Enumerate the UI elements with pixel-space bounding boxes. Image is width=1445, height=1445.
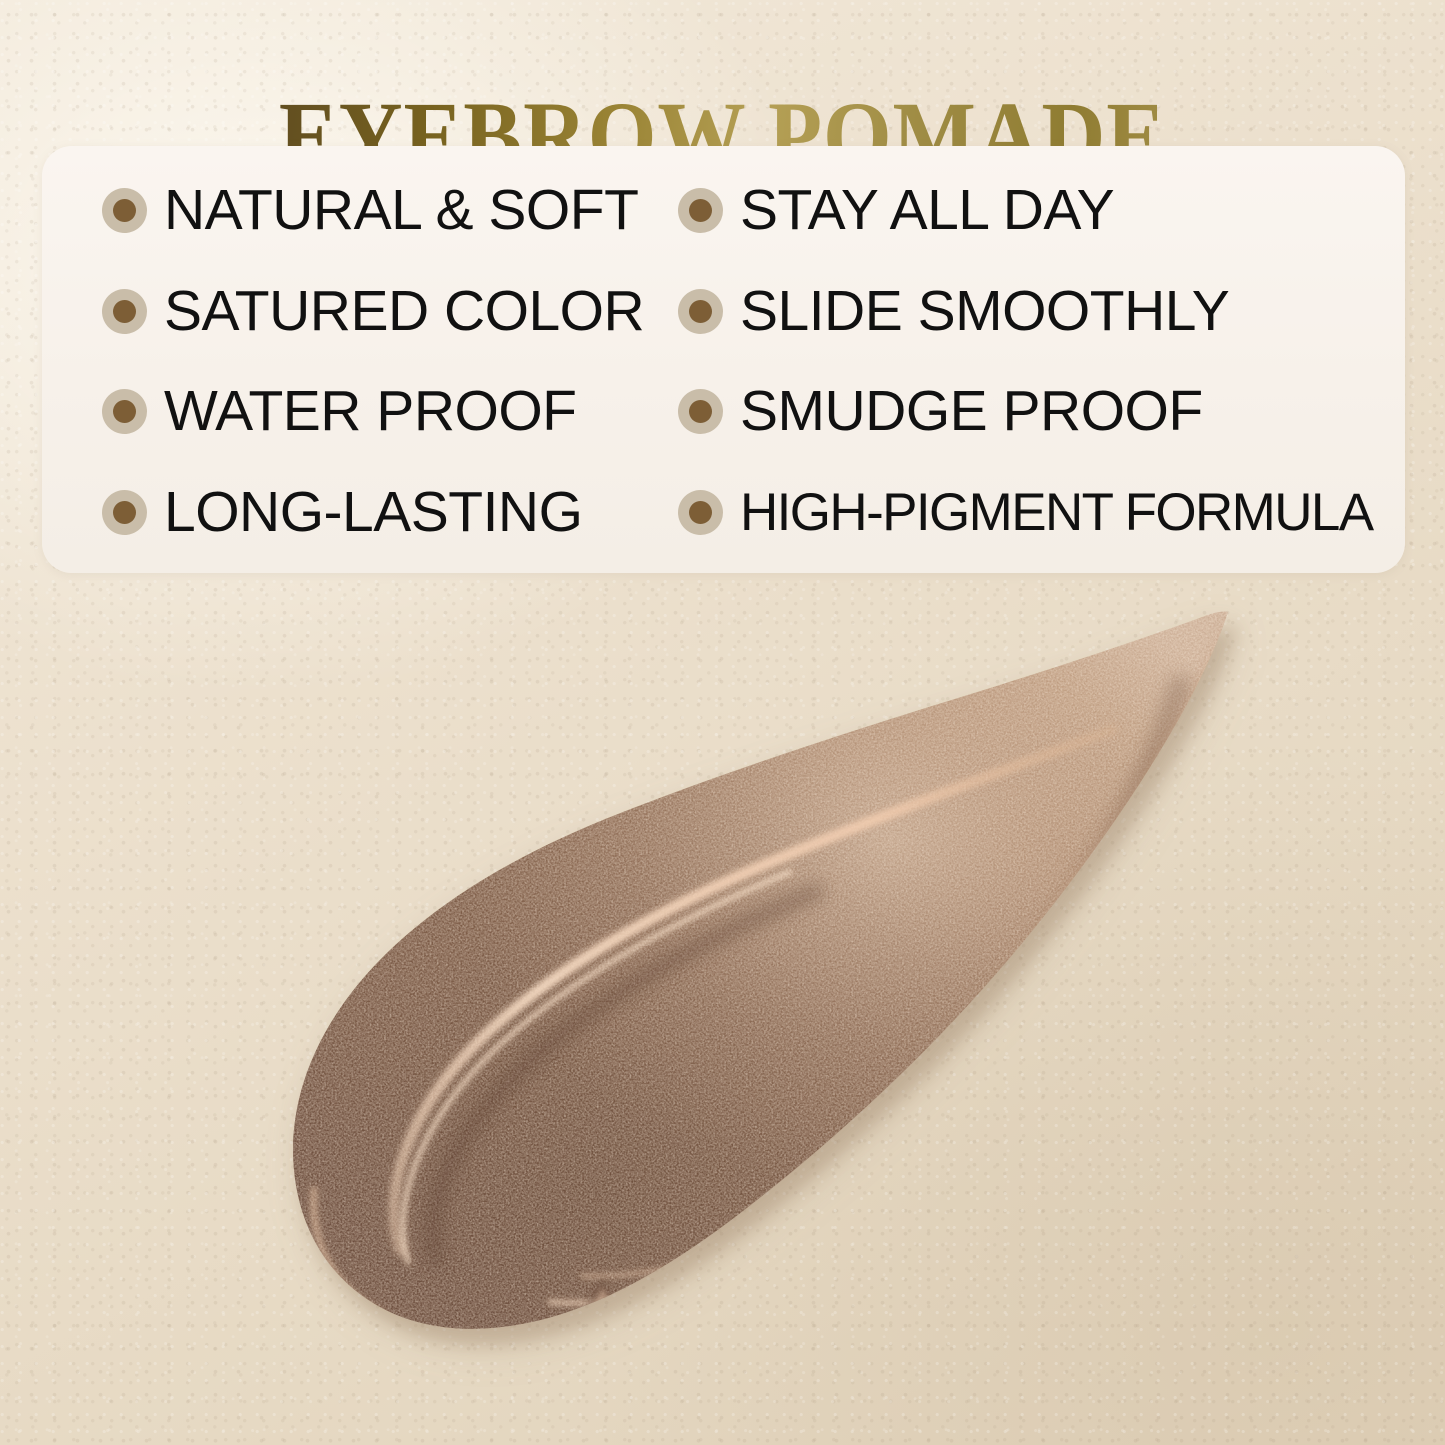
bullet-core-icon xyxy=(689,199,712,222)
bullet-core-icon xyxy=(689,400,712,423)
feature-item-satured-color: SATURED COLOR xyxy=(42,261,620,362)
bullet-dot-icon xyxy=(678,490,723,535)
product-infographic: EYEBROW POMADE NATURAL & SOFT STAY ALL D… xyxy=(0,0,1445,1445)
feature-label: SLIDE SMOOTHLY xyxy=(740,283,1229,340)
feature-item-smudge-proof: SMUDGE PROOF xyxy=(620,362,1405,463)
bullet-core-icon xyxy=(689,501,712,524)
feature-label: SATURED COLOR xyxy=(164,283,644,340)
feature-label: STAY ALL DAY xyxy=(740,182,1114,239)
feature-label: SMUDGE PROOF xyxy=(740,383,1203,440)
bullet-dot-icon xyxy=(102,289,147,334)
feature-item-water-proof: WATER PROOF xyxy=(42,362,620,463)
feature-grid: NATURAL & SOFT STAY ALL DAY SATURED COLO… xyxy=(42,146,1405,573)
bullet-core-icon xyxy=(113,501,136,524)
bullet-dot-icon xyxy=(102,188,147,233)
feature-item-natural-soft: NATURAL & SOFT xyxy=(42,160,620,261)
feature-item-slide-smoothly: SLIDE SMOOTHLY xyxy=(620,261,1405,362)
bullet-dot-icon xyxy=(678,289,723,334)
bullet-dot-icon xyxy=(678,188,723,233)
bullet-dot-icon xyxy=(102,389,147,434)
swatch-body xyxy=(250,590,1280,1420)
feature-label: WATER PROOF xyxy=(164,383,576,440)
bullet-core-icon xyxy=(113,300,136,323)
bullet-core-icon xyxy=(689,300,712,323)
product-swatch xyxy=(250,590,1280,1420)
bullet-core-icon xyxy=(113,199,136,222)
bullet-core-icon xyxy=(113,400,136,423)
bullet-dot-icon xyxy=(678,389,723,434)
pomade-swatch-illustration xyxy=(250,590,1280,1420)
bullet-dot-icon xyxy=(102,490,147,535)
feature-item-long-lasting: LONG-LASTING xyxy=(42,462,620,563)
feature-label: HIGH-PIGMENT FORMULA xyxy=(740,486,1373,539)
feature-item-stay-all-day: STAY ALL DAY xyxy=(620,160,1405,261)
feature-list-card: NATURAL & SOFT STAY ALL DAY SATURED COLO… xyxy=(42,146,1405,573)
feature-label: LONG-LASTING xyxy=(164,484,582,541)
feature-label: NATURAL & SOFT xyxy=(164,182,638,239)
feature-item-high-pigment-formula: HIGH-PIGMENT FORMULA xyxy=(620,462,1405,563)
